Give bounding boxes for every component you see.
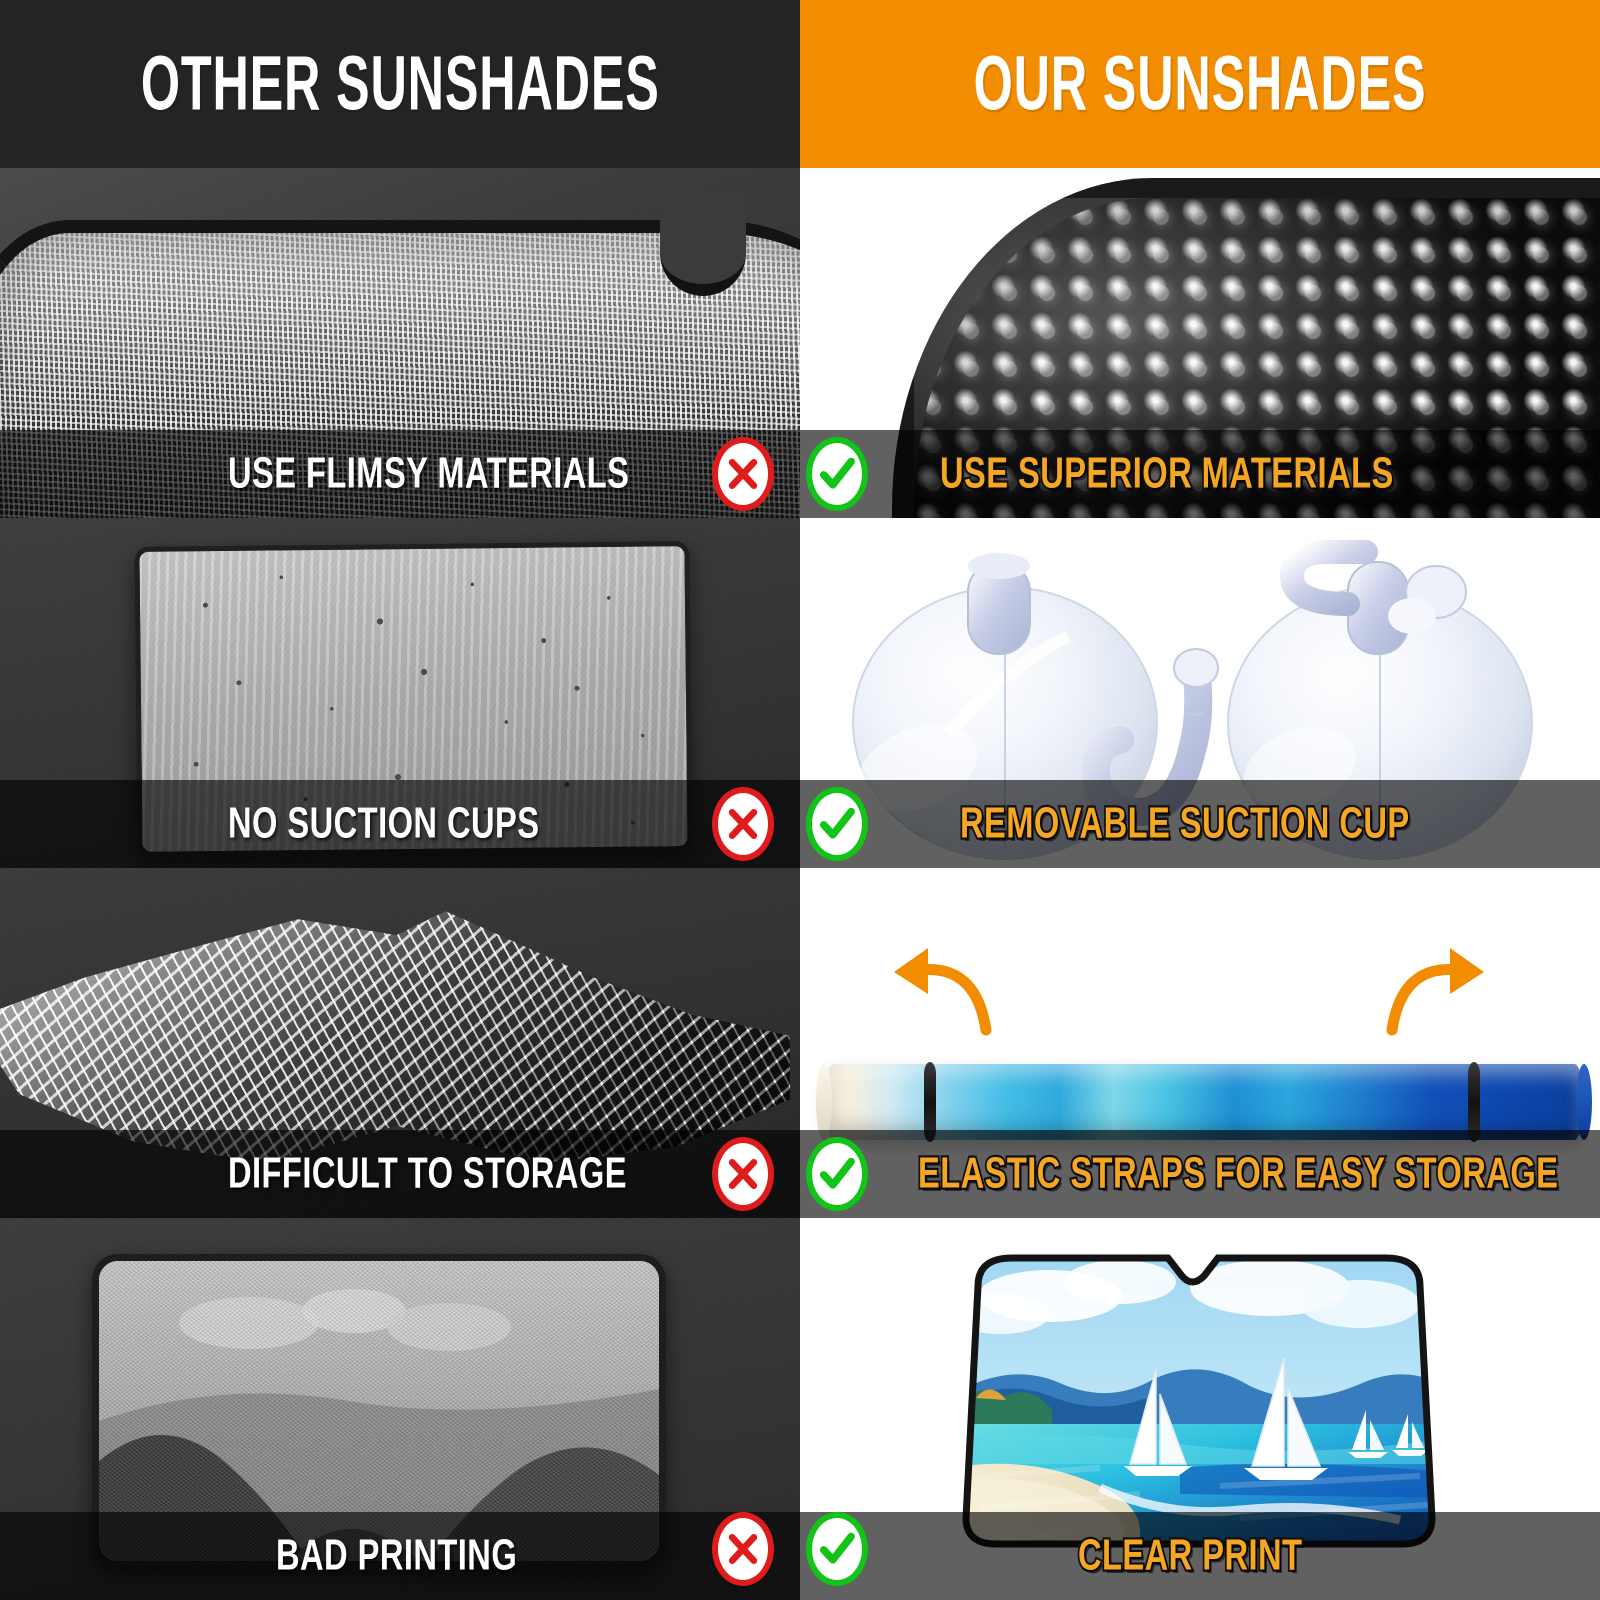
row3-cell-ours: ELASTIC STRAPS FOR EASY STORAGE — [800, 868, 1600, 1218]
curved-arrow-icon — [1380, 946, 1490, 1046]
row2-cell-other: NO SUCTION CUPS — [0, 518, 800, 868]
row3-cell-other: DIFFICULT TO STORAGE — [0, 868, 800, 1218]
comparison-grid: USE FLIMSY MATERIALS USE SUPERIOR MATERI… — [0, 168, 1600, 1600]
row4-cell-other: BAD PRINTING — [0, 1218, 800, 1600]
header-cell-ours: OUR SUNSHADES — [800, 0, 1600, 168]
curved-arrow-icon — [888, 946, 998, 1046]
rolled-sunshade-image — [800, 868, 1600, 1218]
bad-print-image — [0, 1218, 800, 1600]
header-cell-other: OTHER SUNSHADES — [0, 0, 800, 168]
bubble-foil-image — [800, 168, 1600, 518]
row2-cell-ours: REMOVABLE SUCTION CUP — [800, 518, 1600, 868]
header-title-other: OTHER SUNSHADES — [141, 46, 660, 123]
row4-cell-ours: CLEAR PRINT — [800, 1218, 1600, 1600]
spotted-foil-image — [0, 518, 800, 868]
comparison-row-materials: USE FLIMSY MATERIALS USE SUPERIOR MATERI… — [0, 168, 1600, 518]
check-circle-icon — [806, 1512, 868, 1586]
check-circle-icon — [806, 1137, 868, 1211]
row1-cell-ours: USE SUPERIOR MATERIALS — [800, 168, 1600, 518]
header-title-ours: OUR SUNSHADES — [974, 46, 1427, 123]
cross-circle-icon — [712, 1137, 774, 1211]
flimsy-foil-image — [0, 168, 800, 518]
cross-circle-icon — [712, 1512, 774, 1586]
beach-print-sunshade-image — [800, 1218, 1600, 1600]
rolled-sunshade — [824, 1064, 1584, 1140]
elastic-strap — [1468, 1062, 1480, 1142]
comparison-row-suction: NO SUCTION CUPS — [0, 518, 1600, 868]
row1-cell-other: USE FLIMSY MATERIALS — [0, 168, 800, 518]
elastic-strap — [924, 1062, 936, 1142]
crumpled-foil-image — [0, 868, 800, 1218]
comparison-poster: OTHER SUNSHADES OUR SUNSHADES USE FLIMSY… — [0, 0, 1600, 1600]
cross-circle-icon — [712, 437, 774, 511]
check-circle-icon — [806, 437, 868, 511]
comparison-row-printing: BAD PRINTING — [0, 1218, 1600, 1600]
poster-header: OTHER SUNSHADES OUR SUNSHADES — [0, 0, 1600, 168]
cross-circle-icon — [712, 787, 774, 861]
check-circle-icon — [806, 787, 868, 861]
suction-cups-image — [800, 518, 1600, 868]
comparison-row-storage: DIFFICULT TO STORAGE — [0, 868, 1600, 1218]
